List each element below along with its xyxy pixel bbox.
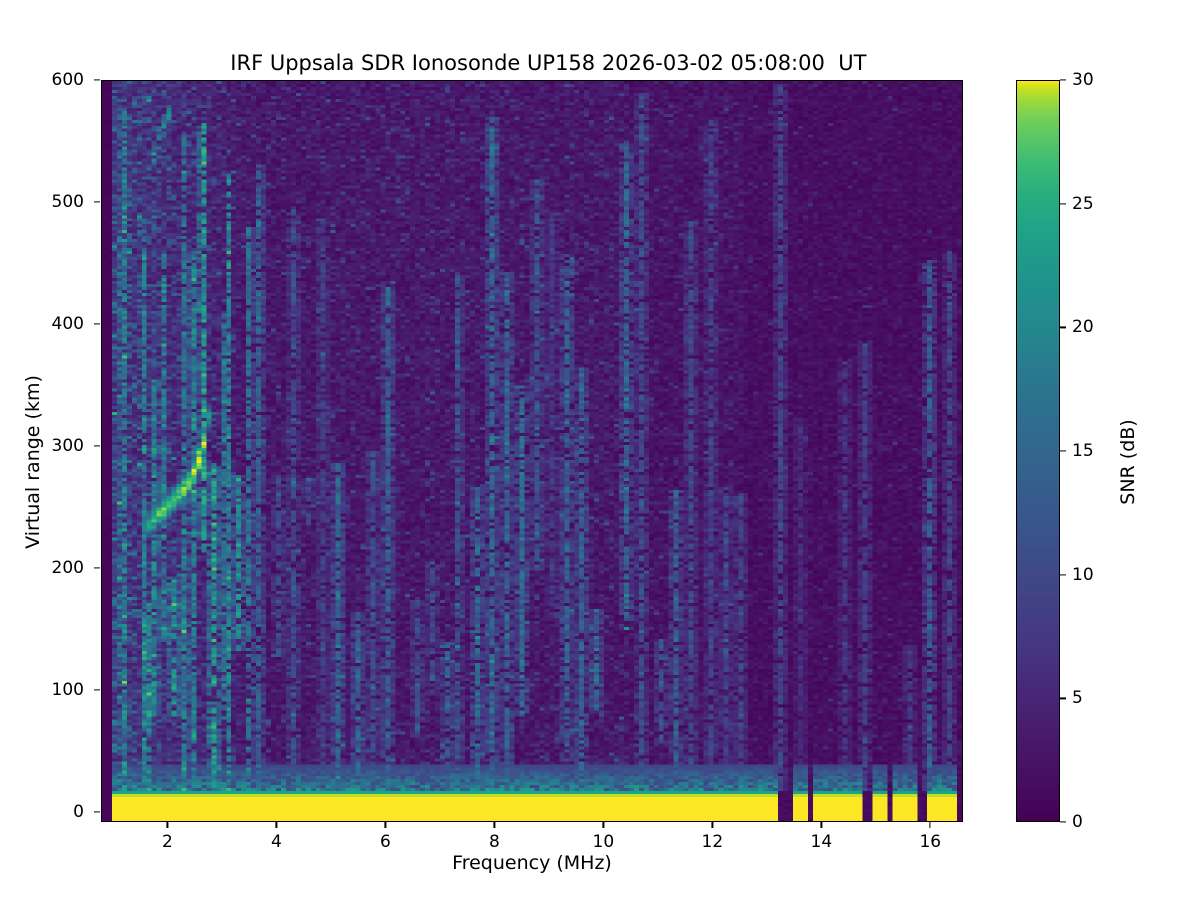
y-tick-label: 500 [52,192,84,212]
colorbar-tick-mark [1060,574,1066,575]
y-tick-mark [94,201,100,202]
x-tick-mark [276,822,277,828]
colorbar-tick-label: 10 [1072,565,1094,585]
ionogram-plot-area[interactable] [101,80,963,822]
y-tick-mark [94,812,100,813]
x-tick-label: 16 [919,832,941,852]
x-tick-mark [494,822,495,828]
colorbar-tick-label: 15 [1072,441,1094,461]
y-tick-label: 600 [52,70,84,90]
x-tick-label: 6 [380,832,391,852]
x-tick-label: 14 [811,832,833,852]
x-tick-label: 2 [162,832,173,852]
colorbar-tick-label: 5 [1072,688,1083,708]
x-tick-label: 8 [489,832,500,852]
y-axis-ticks: 0100200300400500600 [0,0,94,900]
colorbar-tick-mark [1060,327,1066,328]
y-tick-label: 0 [73,802,84,822]
x-tick-mark [821,822,822,828]
y-tick-mark [94,323,100,324]
colorbar-tick-label: 25 [1072,194,1094,214]
colorbar-gradient [1016,80,1060,822]
snr-heatmap [102,81,962,821]
x-tick-mark [712,822,713,828]
colorbar-tick-label: 0 [1072,812,1083,832]
colorbar-tick-mark [1060,821,1066,822]
x-axis-label: Frequency (MHz) [101,852,963,874]
y-tick-mark [94,79,100,80]
y-tick-mark [94,690,100,691]
y-tick-mark [94,568,100,569]
y-tick-label: 400 [52,314,84,334]
y-axis-label: Virtual range (km) [22,312,44,612]
snr-heatmap-canvas [102,81,962,821]
x-tick-mark [930,822,931,828]
colorbar-tick-mark [1060,203,1066,204]
x-tick-mark [603,822,604,828]
colorbar-tick-mark [1060,698,1066,699]
colorbar-label: SNR (dB) [1117,312,1139,612]
colorbar-tick-mark [1060,79,1066,80]
colorbar-tick-label: 20 [1072,317,1094,337]
colorbar-tick-mark [1060,450,1066,451]
y-tick-mark [94,446,100,447]
y-tick-label: 200 [52,558,84,578]
y-tick-label: 100 [52,680,84,700]
x-tick-label: 12 [702,832,724,852]
ionogram-figure: IRF Uppsala SDR Ionosonde UP158 2026-03-… [0,0,1200,900]
x-tick-label: 10 [593,832,615,852]
x-tick-mark [385,822,386,828]
x-tick-label: 4 [271,832,282,852]
y-tick-label: 300 [52,436,84,456]
colorbar-tick-label: 30 [1072,70,1094,90]
x-tick-mark [167,822,168,828]
title-line-1: IRF Uppsala SDR Ionosonde UP158 2026-03-… [230,51,866,75]
